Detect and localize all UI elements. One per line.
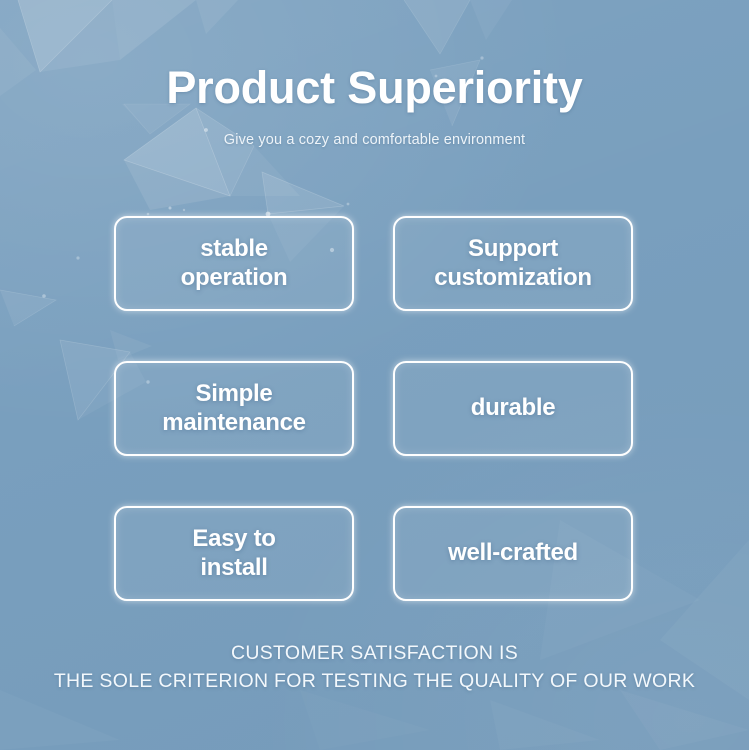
poster-header: Product Superiority Give you a cozy and … — [0, 0, 749, 148]
feature-card-support-customization[interactable]: Support customization — [393, 216, 633, 311]
feature-card-durable[interactable]: durable — [393, 361, 633, 456]
product-superiority-poster: Product Superiority Give you a cozy and … — [0, 0, 749, 750]
feature-card-label: Support customization — [424, 235, 601, 291]
feature-card-well-crafted[interactable]: well-crafted — [393, 506, 633, 601]
feature-card-label: durable — [461, 394, 566, 422]
feature-card-stable-operation[interactable]: stable operation — [114, 216, 354, 311]
feature-grid: stable operation Support customization S… — [114, 216, 633, 601]
feature-card-label: Simple maintenance — [152, 380, 315, 436]
feature-card-easy-to-install[interactable]: Easy to install — [114, 506, 354, 601]
page-subtitle: Give you a cozy and comfortable environm… — [0, 132, 749, 148]
footer-slogan-line-1: CUSTOMER SATISFACTION IS — [0, 640, 749, 668]
feature-card-label: well-crafted — [438, 539, 588, 567]
footer-slogan-line-2: THE SOLE CRITERION FOR TESTING THE QUALI… — [0, 668, 749, 696]
feature-card-label: stable operation — [171, 235, 298, 291]
page-title: Product Superiority — [0, 64, 749, 111]
feature-card-label: Easy to install — [182, 525, 285, 581]
feature-card-simple-maintenance[interactable]: Simple maintenance — [114, 361, 354, 456]
footer-slogan: CUSTOMER SATISFACTION IS THE SOLE CRITER… — [0, 640, 749, 695]
